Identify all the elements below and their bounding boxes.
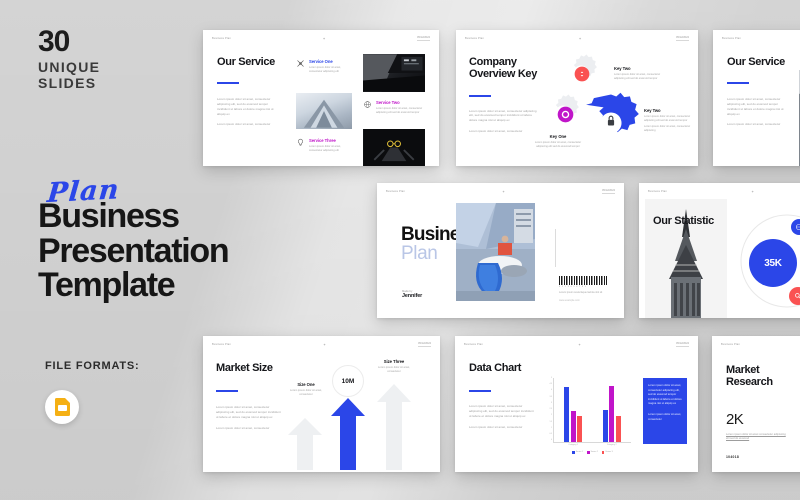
slide-body-2: Lorem ipsum dolor sit amet, consectetur — [727, 122, 789, 127]
slide-header-left: Business Plan — [212, 37, 231, 40]
title-line-2: Presentation — [38, 234, 228, 269]
title-rule — [216, 390, 238, 392]
chart-bar — [609, 386, 614, 442]
list-item[interactable]: Service Three Lorem ipsum dolor sit amet… — [296, 138, 352, 153]
chart-y-tick: 4.5 — [550, 384, 553, 386]
slide-image-architecture — [296, 93, 352, 129]
slide-title: Our Service — [217, 56, 281, 68]
slide-header-right: 05/12/2024 — [602, 189, 615, 194]
bulb-icon — [296, 138, 305, 147]
google-slides-badge[interactable] — [45, 390, 79, 424]
chart-legend-label: Series 2 — [591, 451, 598, 453]
plus-icon: + — [579, 36, 581, 41]
title-rule — [217, 82, 239, 84]
slide-header-right: 05/12/2024 — [676, 342, 689, 347]
list-item-text: Lorem ipsum dolor sit amet, consectetur … — [376, 107, 423, 115]
chart-bar — [577, 416, 582, 442]
slide-body-2: Lorem ipsum dolor sit amet, consectetur — [217, 122, 281, 127]
chart-x-axis-line — [553, 442, 631, 443]
list-item-text: Lorem ipsum dolor sit amet, consectetur … — [309, 66, 352, 74]
slide-body-1: Lorem ipsum dolor sit amet, consectetur … — [216, 405, 282, 419]
chart-bar — [603, 410, 608, 442]
plus-icon: + — [752, 189, 754, 194]
slide-image-office — [456, 203, 535, 301]
slide-header: Business Plan + — [639, 183, 800, 199]
chart-legend-label: Series 1 — [576, 451, 583, 453]
slide-header-left: Business Plan — [721, 343, 740, 346]
key-icon — [794, 292, 800, 301]
arrow-size-three — [377, 384, 411, 470]
node-blue[interactable] — [791, 219, 800, 235]
chart-y-axis: 54.543.532.521.510.50 — [543, 378, 552, 442]
list-item-text: Lorem ipsum dolor sit amet, consectetur … — [614, 73, 670, 81]
plus-icon: + — [323, 36, 325, 41]
stat-value: 35K — [764, 258, 781, 269]
slide-header: Business Plan + 05/12/2024 — [377, 183, 624, 199]
slide-header: Business Plan + 05/12/2024 — [456, 30, 698, 46]
chart-x-axis-labels: Category 1Category 2 — [554, 444, 631, 446]
slide-header-left: Business Plan — [722, 37, 741, 40]
arrow-size-one — [288, 418, 322, 470]
slide-header: Business Plan — [713, 30, 800, 46]
chart-y-tick: 0.5 — [550, 434, 553, 436]
slide-count-subtitle: UNIQUE SLIDES — [38, 60, 100, 91]
chart-y-tick: 2 — [551, 415, 552, 417]
website-text: www.example.com — [559, 299, 607, 302]
compass-icon — [296, 59, 305, 68]
chart-x-tick: Category 1 — [568, 444, 578, 446]
barcode-digits: 0 1 2 3 4 5 6 7 8 9 — [559, 286, 607, 288]
plus-icon: + — [502, 189, 504, 194]
list-item-text: Lorem ipsum dolor sit amet, consectetur … — [532, 141, 584, 149]
chart-bar-group — [603, 378, 621, 442]
list-item[interactable]: Key One Lorem ipsum dolor sit amet, cons… — [532, 134, 584, 149]
chart-plot-area — [554, 378, 631, 442]
callout-text-1: Lorem ipsum dolor sit amet, consectetur … — [648, 384, 682, 407]
slide-title: Our Statistic — [653, 215, 714, 227]
title-line-3: Template — [38, 268, 228, 303]
chart-bar — [571, 411, 576, 442]
slide-header: Business Plan — [712, 336, 800, 352]
slide-preview-market-research[interactable]: Business Plan Market Research 2K Lorem i… — [712, 336, 800, 472]
list-item-text: Lorem ipsum dolor sit amet, consectetur … — [644, 115, 694, 123]
list-item-text: Lorem ipsum dolor sit amet, consectetur — [373, 366, 415, 374]
slide-header-left: Business Plan — [386, 190, 405, 193]
chart-y-tick: 1.5 — [550, 422, 553, 424]
slide-image-portrait — [363, 129, 425, 166]
slide-body-1: Lorem ipsum dolor sit amet, consectetur … — [469, 404, 535, 418]
globe-icon — [795, 223, 800, 231]
bubble-value[interactable]: 10M — [332, 365, 364, 397]
slide-body-1: Lorem ipsum dolor sit amet, consectetur … — [727, 97, 789, 116]
chart-bar — [616, 416, 621, 442]
slide-title-line-1: Company — [469, 56, 541, 68]
chart-y-tick: 2.5 — [550, 409, 553, 411]
slide-body-2: Lorem ipsum dolor sit amet, consectetur — [469, 129, 541, 134]
list-item[interactable]: Service Two Lorem ipsum dolor sit amet, … — [363, 100, 423, 115]
chart-y-tick: 5 — [551, 378, 552, 380]
slide-preview-our-service[interactable]: Business Plan + 05/12/2024 Our Service L… — [203, 30, 439, 166]
slide-header-right: 05/12/2024 — [417, 36, 430, 41]
barcode-image — [559, 276, 607, 285]
title-rule — [469, 95, 491, 97]
chart-legend-item: Series 3 — [602, 451, 613, 454]
slide-header-right: 05/12/2024 — [676, 36, 689, 41]
list-item-label: Service One — [309, 59, 352, 64]
google-slides-icon — [55, 398, 70, 416]
list-item-label: Service Three — [309, 138, 352, 143]
callout-text-2: Lorem ipsum dolor sit amet, consectetur — [648, 413, 682, 422]
slide-body-2: Lorem ipsum dolor sit amet, consectetur — [216, 426, 282, 431]
slide-header: Business Plan + 05/12/2024 — [203, 30, 439, 46]
slide-preview-our-service-2[interactable]: Business Plan Our Service Lorem ipsum do… — [713, 30, 800, 166]
gear-medium — [557, 106, 574, 123]
list-item-text-2: Lorem ipsum dolor sit amet, consectetur … — [644, 125, 694, 133]
chart-x-tick: Category 2 — [607, 444, 617, 446]
list-item-label: Size Three — [373, 359, 415, 364]
gear-large — [580, 92, 642, 154]
bar-chart: 54.543.532.521.510.50 Category 1Category… — [543, 378, 631, 452]
stat-small: 104018 — [726, 455, 786, 459]
list-item-text: Lorem ipsum dolor sit amet, consectetur — [285, 389, 327, 397]
made-by-name: Jennifer — [402, 293, 422, 299]
list-item-label: Key Two — [644, 108, 694, 113]
chart-bar-group — [564, 378, 582, 442]
slide-preview-our-statistic[interactable]: Business Plan + Our Statistic 35K — [639, 183, 800, 318]
slide-body-2: Lorem ipsum dolor sit amet, consectetur — [469, 425, 535, 430]
slide-title: Our Service — [727, 56, 789, 68]
bubble-value-text: 10M — [342, 378, 355, 385]
chart-y-tick: 3 — [551, 403, 552, 405]
file-formats-block: FILE FORMATS: — [45, 360, 140, 424]
arrow-highlight — [331, 398, 365, 470]
slide-header: Business Plan + 05/12/2024 — [203, 336, 440, 352]
gear-small — [574, 66, 590, 82]
chart-legend-swatch — [572, 451, 575, 454]
slide-header-left: Business Plan — [212, 343, 231, 346]
list-item[interactable]: Key Two Lorem ipsum dolor sit amet, cons… — [644, 108, 694, 134]
list-item-label: Key Two — [614, 66, 670, 71]
stat-value: 2K — [726, 411, 786, 428]
chart-y-tick: 0 — [551, 440, 552, 442]
globe-icon — [363, 100, 372, 109]
title-rule — [727, 82, 749, 84]
slide-preview-market-size[interactable]: Business Plan + 05/12/2024 Market Size L… — [203, 336, 440, 472]
plus-icon: + — [323, 342, 325, 347]
list-item-text: Lorem ipsum dolor sit amet, consectetur … — [309, 145, 352, 153]
slide-header-right: 05/12/2024 — [418, 342, 431, 347]
slide-header: Business Plan + 05/12/2024 — [455, 336, 698, 352]
slide-header-left: Business Plan — [464, 343, 483, 346]
slide-count-sub-line2: SLIDES — [38, 76, 100, 92]
file-format-icon-list — [45, 390, 140, 424]
list-item[interactable]: Service One Lorem ipsum dolor sit amet, … — [296, 59, 352, 74]
list-item-label: Service Two — [376, 100, 423, 105]
file-formats-label: FILE FORMATS: — [45, 360, 140, 372]
slide-preview-business-plan[interactable]: Business Plan + 05/12/2024 Business Plan… — [377, 183, 624, 318]
slide-header-left: Business Plan — [648, 190, 667, 193]
slide-count-number: 30 — [38, 27, 100, 57]
slide-body-1: Lorem ipsum dolor sit amet, consectetur … — [469, 109, 541, 123]
chart-legend-label: Series 3 — [605, 451, 612, 453]
slide-title: Market Size — [216, 362, 282, 374]
node-coral[interactable] — [789, 287, 800, 305]
slide-count-sub-line1: UNIQUE — [38, 60, 100, 76]
slide-image-interior — [363, 54, 425, 92]
chart-legend-item: Series 1 — [572, 451, 583, 454]
chart-y-tick: 1 — [551, 428, 552, 430]
slide-count-block: 30 UNIQUE SLIDES — [38, 27, 100, 91]
chart-legend-swatch — [602, 451, 605, 454]
list-item-label: Size One — [285, 382, 327, 387]
barcode-caption: Lorem ipsum scelerisque lacinia nisl sit — [559, 291, 607, 294]
chart-bar — [564, 387, 569, 442]
slide-title-line-1: Market — [726, 364, 786, 376]
plus-icon: + — [578, 342, 580, 347]
chart-legend: Series 1Series 2Series 3 — [554, 451, 631, 454]
page-title: Plan Business Presentation Template — [38, 178, 228, 303]
title-rule — [469, 390, 491, 392]
chart-legend-item: Series 2 — [587, 451, 598, 454]
list-item-label: Key One — [532, 134, 584, 139]
stat-bubble-main[interactable]: 35K — [749, 239, 797, 287]
chart-legend-swatch — [587, 451, 590, 454]
slide-title: Data Chart — [469, 362, 535, 374]
slide-preview-company-overview-key[interactable]: Business Plan + 05/12/2024 Company Overv… — [456, 30, 698, 166]
stat-text: Lorem ipsum dolor sit amet consectetur a… — [726, 433, 786, 442]
list-item[interactable]: Size One Lorem ipsum dolor sit amet, con… — [285, 382, 327, 397]
slide-body-1: Lorem ipsum dolor sit amet, consectetur … — [217, 97, 281, 116]
divider — [555, 229, 556, 267]
slide-header-left: Business Plan — [465, 37, 484, 40]
chart-y-tick: 4 — [551, 390, 552, 392]
callout-card: Lorem ipsum dolor sit amet, consectetur … — [643, 378, 687, 444]
list-item[interactable]: Size Three Lorem ipsum dolor sit amet, c… — [373, 359, 415, 374]
list-item[interactable]: Key Two Lorem ipsum dolor sit amet, cons… — [614, 66, 670, 81]
slide-title-line-2: Research — [726, 376, 786, 388]
chart-y-tick: 3.5 — [550, 397, 553, 399]
slide-title-line-2: Overview Key — [469, 68, 541, 80]
slide-preview-data-chart[interactable]: Business Plan + 05/12/2024 Data Chart Lo… — [455, 336, 698, 472]
